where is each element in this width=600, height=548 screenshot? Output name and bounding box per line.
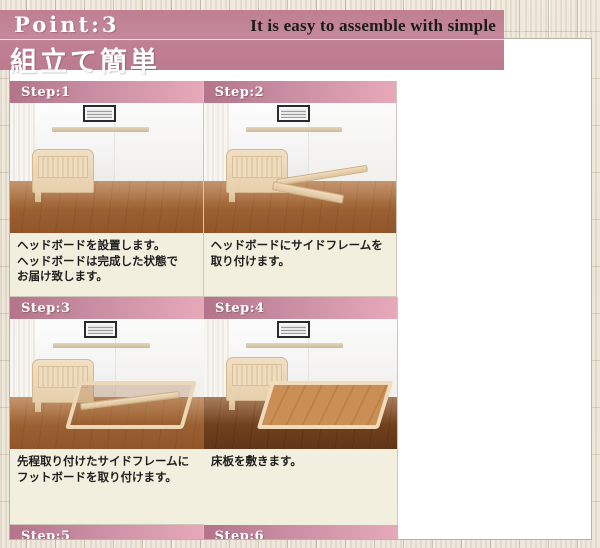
step-caption: ヘッドボードにサイドフレームを 取り付けます。 (204, 233, 397, 296)
headline-english: It is easy to assemble with simple (250, 16, 496, 36)
step-caption: ヘッドボードを設置します。 ヘッドボードは完成した状態で お届け致します。 (10, 233, 203, 296)
step-card[interactable]: Step:1 ヘッドボードを設置します。 ヘッドボードは完成した状態で お届け致… (10, 81, 204, 297)
step-photo (204, 103, 397, 233)
step-label-bar: Step:2 (204, 81, 397, 103)
step-label-bar: Step:1 (10, 81, 203, 103)
step-photo (10, 103, 203, 233)
step-caption-text: ヘッドボードを設置します。 ヘッドボードは完成した状態で お届け致します。 (17, 238, 196, 285)
step-card[interactable]: Step:6 マットを設置して完成です。 (204, 525, 398, 540)
step-caption-text: 床板を敷きます。 (211, 454, 390, 470)
step-label: Step:2 (215, 85, 265, 100)
point-number-label: Point:3 (14, 12, 120, 37)
wall-picture-icon (277, 105, 310, 122)
step-caption-text: 先程取り付けたサイドフレームに フットボードを取り付けます。 (17, 454, 197, 485)
step-label-bar: Step:3 (10, 297, 204, 319)
step-caption-text: ヘッドボードにサイドフレームを 取り付けます。 (211, 238, 390, 269)
step-label: Step:3 (21, 301, 71, 316)
step-caption: 床板を敷きます。 (204, 449, 397, 525)
step-label-bar: Step:6 (204, 525, 398, 540)
step-label: Step:4 (215, 301, 265, 316)
step-photo (10, 319, 204, 449)
step-card[interactable]: Step:2 ヘッドボードにサイドフレームを 取り付けます。 (204, 81, 398, 297)
step-card[interactable]: Step:5 大小の引き出しをそれぞれ 取り付けます。引き出しは 完成した状態で… (10, 525, 204, 540)
headline-japanese: 組立て簡単 (10, 40, 160, 79)
step-label: Step:6 (215, 529, 265, 541)
wall-picture-icon (83, 105, 116, 122)
step-card[interactable]: Step:4 床板を敷きます。 (204, 297, 398, 525)
step-photo (204, 319, 397, 449)
step-label-bar: Step:5 (10, 525, 203, 540)
step-caption: 先程取り付けたサイドフレームに フットボードを取り付けます。 (10, 449, 204, 512)
content-panel: Step:1 ヘッドボードを設置します。 ヘッドボードは完成した状態で お届け致… (9, 38, 592, 540)
step-label: Step:1 (21, 85, 71, 100)
step-card[interactable]: Step:3 先程取り付けたサイドフレームに フットボードを取り付けます。 (10, 297, 204, 525)
point-header-banner: Point:3 It is easy to assemble with simp… (0, 10, 504, 70)
step-label: Step:5 (21, 529, 71, 541)
wall-picture-icon (277, 321, 310, 338)
wall-picture-icon (84, 321, 117, 338)
steps-grid: Step:1 ヘッドボードを設置します。 ヘッドボードは完成した状態で お届け致… (10, 81, 591, 540)
step-label-bar: Step:4 (204, 297, 397, 319)
